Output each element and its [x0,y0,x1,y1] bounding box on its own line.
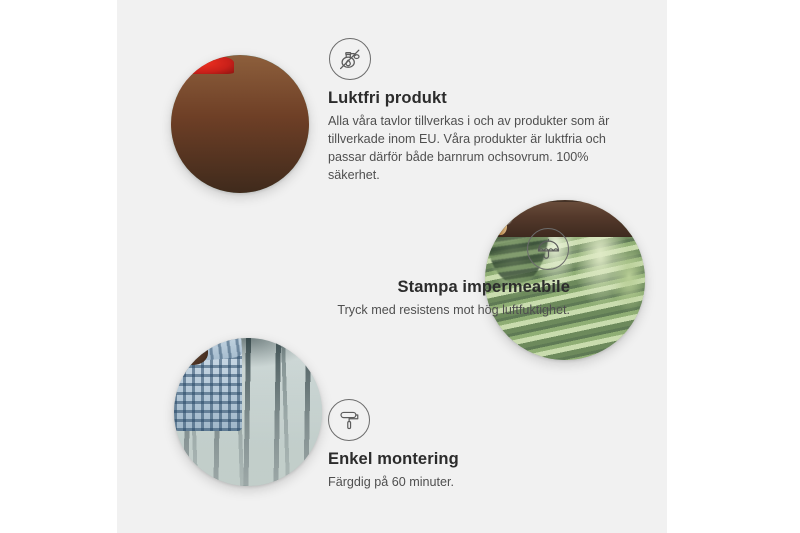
feature-body: Färgdig på 60 minuter. [328,474,628,492]
painter-smile [174,338,186,342]
paint-roller-icon [328,399,370,441]
painter-forest-photo[interactable] [174,338,322,486]
feature-title: Enkel montering [328,450,628,469]
underwater-cartoon-photo[interactable] [171,55,309,193]
feature-body: Alla våra tavlor tillverkas i och av pro… [328,113,628,185]
feature-panel: Luktfri produkt Alla våra tavlor tillver… [117,0,667,533]
feature-title: Stampa impermeabile [191,278,570,297]
page-canvas: Luktfri produkt Alla våra tavlor tillver… [0,0,800,533]
feature-waterproof: Stampa impermeabile Tryck med resistens … [191,228,570,320]
feature-body: Tryck med resistens mot hög luftfuktighe… [191,302,570,320]
feature-easy-mounting: Enkel montering Färgdig på 60 minuter. [328,399,628,492]
feature-odour-free: Luktfri produkt Alla våra tavlor tillver… [328,38,628,185]
umbrella-icon [527,228,569,270]
feature-title: Luktfri produkt [328,89,628,108]
sea-red-object [171,55,234,74]
sea-floor-band [171,55,309,193]
no-fragrance-icon [329,38,371,80]
